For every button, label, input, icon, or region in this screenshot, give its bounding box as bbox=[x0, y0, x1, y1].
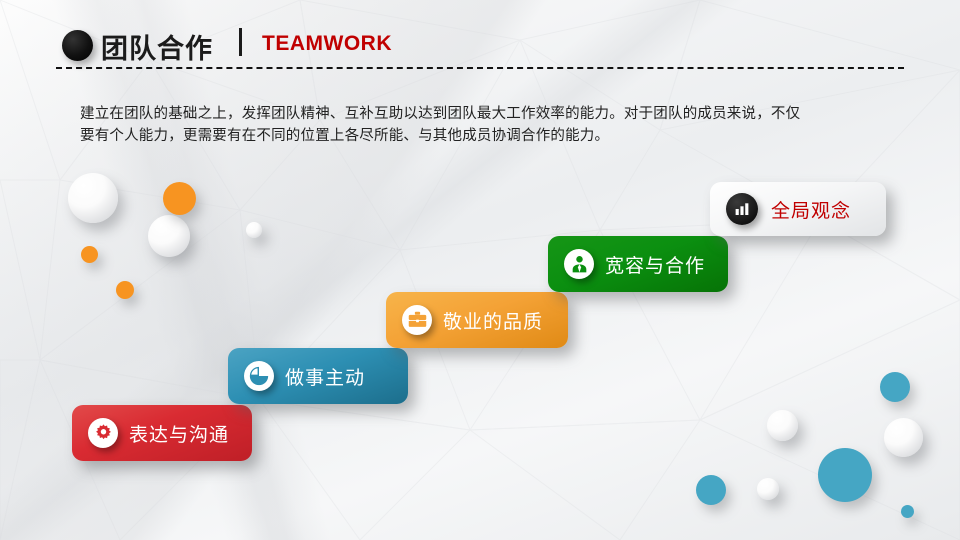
decor-sphere-right-2 bbox=[767, 410, 798, 441]
briefcase-icon bbox=[402, 305, 432, 335]
step-professionalism-label: 敬业的品质 bbox=[443, 307, 543, 334]
slide-canvas: 团队合作 TEAMWORK 建立在团队的基础之上，发挥团队精神、互补互助以达到团… bbox=[0, 0, 960, 540]
page-title: 团队合作 bbox=[101, 27, 213, 66]
decor-circle-teal-2 bbox=[818, 448, 872, 502]
step-big-picture-banner[interactable]: 全局观念 bbox=[710, 182, 886, 236]
decor-sphere-right-1 bbox=[884, 418, 923, 457]
paragraph-line-1: 建立在团队的基础之上，发挥团队精神、互补互助以达到团队最大工作效率的能力。对于团… bbox=[80, 103, 880, 125]
step-professionalism-banner[interactable]: 敬业的品质 bbox=[386, 292, 568, 348]
paragraph-line-2: 要有个人能力，更需要有在不同的位置上各尽所能、与其他成员协调合作的能力。 bbox=[80, 125, 880, 147]
decor-sphere-right-3 bbox=[757, 478, 779, 500]
decor-circle-teal-4 bbox=[901, 505, 914, 518]
pie-chart-icon bbox=[244, 361, 274, 391]
step-communication-label: 表达与沟通 bbox=[129, 420, 229, 447]
black-dot-icon bbox=[62, 30, 93, 61]
body-paragraph: 建立在团队的基础之上，发挥团队精神、互补互助以达到团队最大工作效率的能力。对于团… bbox=[80, 103, 880, 147]
step-big-picture-label: 全局观念 bbox=[771, 196, 851, 223]
decor-circle-teal-1 bbox=[880, 372, 910, 402]
decor-sphere-left-2 bbox=[148, 215, 190, 257]
decor-circle-orange-2 bbox=[81, 246, 98, 263]
person-icon bbox=[564, 249, 594, 279]
slide-header: 团队合作 TEAMWORK bbox=[0, 0, 960, 74]
header-dashed-rule bbox=[56, 67, 904, 69]
step-initiative-banner[interactable]: 做事主动 bbox=[228, 348, 408, 404]
decor-circle-orange-3 bbox=[116, 281, 134, 299]
decor-sphere-left-3 bbox=[246, 222, 262, 238]
title-divider bbox=[239, 28, 242, 56]
bar-chart-icon bbox=[726, 193, 758, 225]
decor-circle-orange-1 bbox=[163, 182, 196, 215]
step-cooperation-label: 宽容与合作 bbox=[605, 251, 705, 278]
decor-circle-teal-3 bbox=[696, 475, 726, 505]
decor-sphere-left-1 bbox=[68, 173, 118, 223]
page-subtitle: TEAMWORK bbox=[262, 32, 392, 56]
gear-icon bbox=[88, 418, 118, 448]
step-cooperation-banner[interactable]: 宽容与合作 bbox=[548, 236, 728, 292]
step-communication-banner[interactable]: 表达与沟通 bbox=[72, 405, 252, 461]
step-initiative-label: 做事主动 bbox=[285, 363, 365, 390]
